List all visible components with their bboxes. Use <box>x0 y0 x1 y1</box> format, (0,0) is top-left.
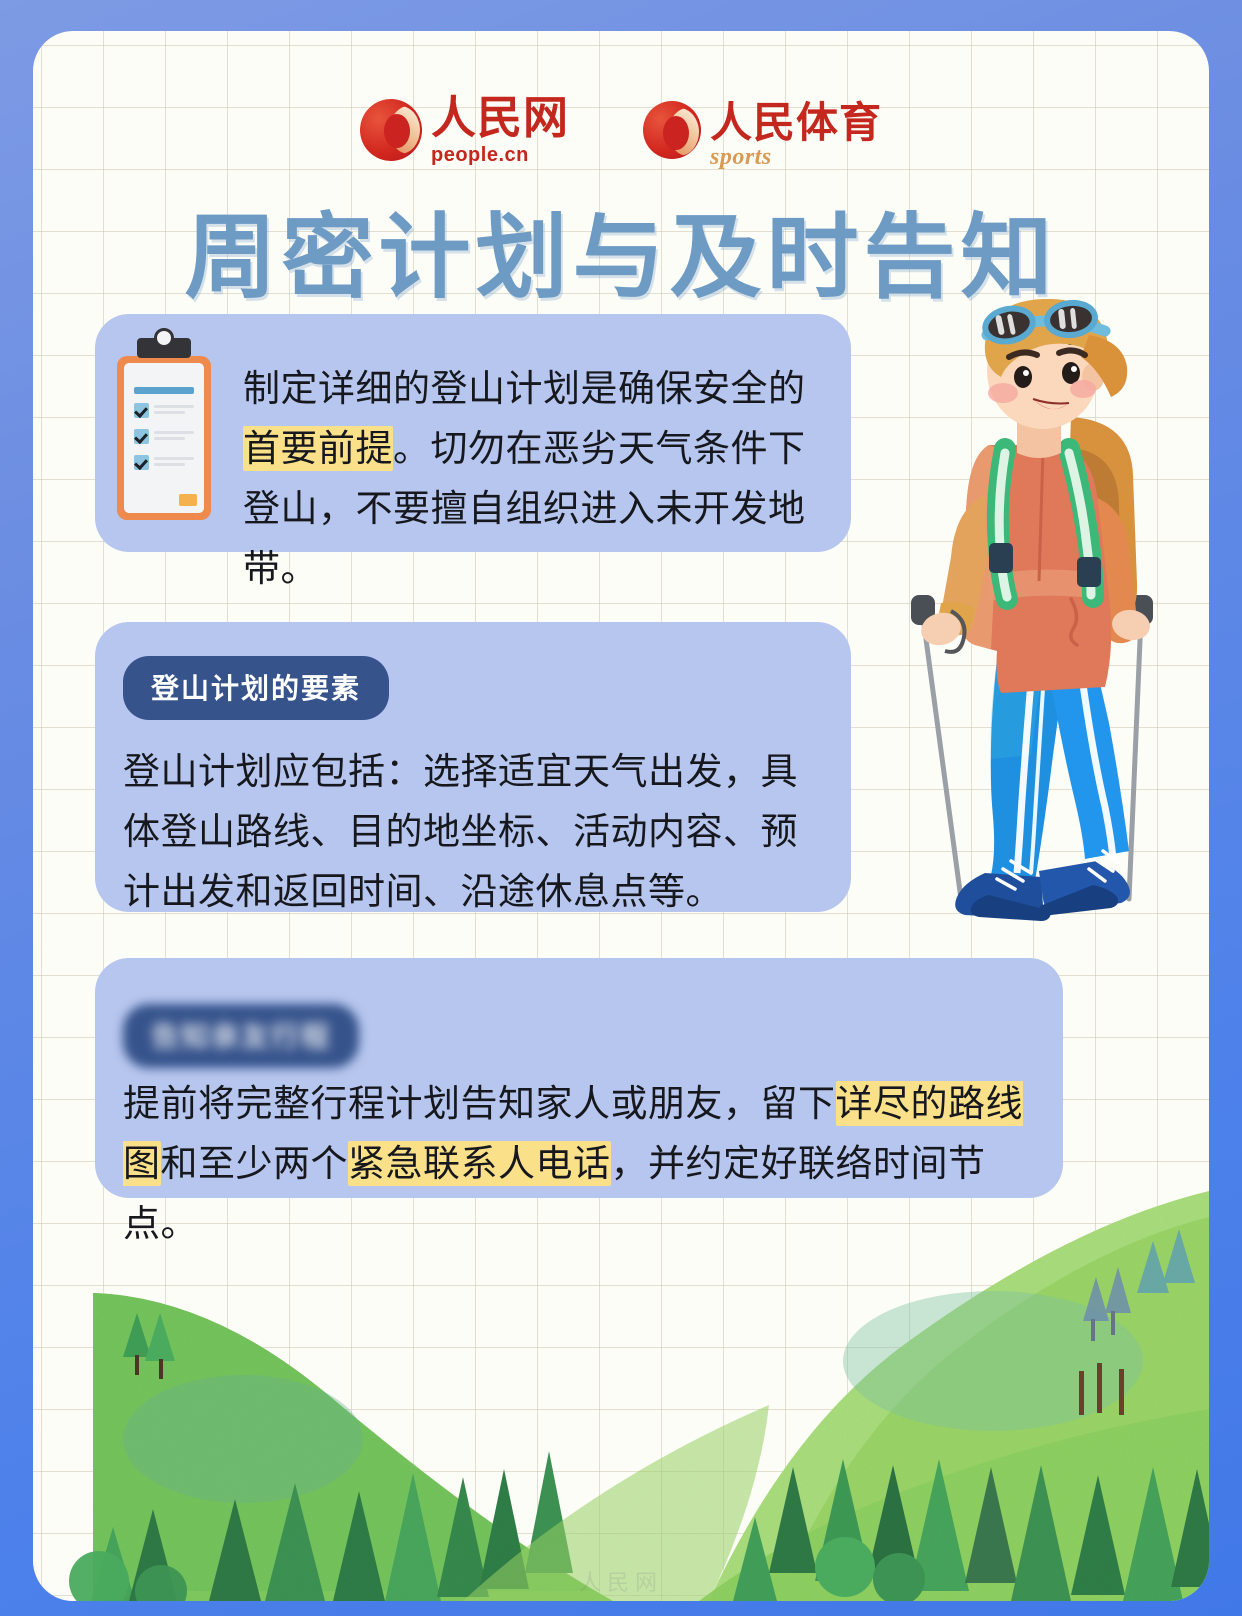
text-run: 提前将完整行程计划告知家人或朋友，留下 <box>123 1082 836 1125</box>
card-notify: 告知亲友行程 提前将完整行程计划告知家人或朋友，留下详尽的路线图和至少两个紧急联… <box>95 958 1063 1198</box>
clipboard-item <box>134 455 194 470</box>
clipboard-item <box>134 403 194 418</box>
clipboard-lines <box>154 405 194 417</box>
highlight-run: 首要前提 <box>243 426 393 471</box>
card-elements: 登山计划的要素 登山计划应包括：选择适宜天气出发，具体登山路线、目的地坐标、活动… <box>95 622 851 912</box>
clipboard-checklist-icon <box>117 356 211 520</box>
clipboard-paper <box>124 363 204 513</box>
poster-root: 人民网 people.cn 人民体育 sports 周密计划与及时告知 <box>0 0 1242 1616</box>
checkmark-icon <box>134 429 149 444</box>
clipboard-orange-marker <box>179 494 197 506</box>
card-plan: 制定详细的登山计划是确保安全的首要前提。切勿在恶劣天气条件下登山，不要擅自组织进… <box>95 314 851 552</box>
clipboard-clip-icon <box>137 338 191 358</box>
people-cn-wordmark: 人民网 people.cn <box>431 96 569 165</box>
card-elements-paragraph: 登山计划应包括：选择适宜天气出发，具体登山路线、目的地坐标、活动内容、预计出发和… <box>123 742 833 922</box>
people-cn-chinese: 人民网 <box>431 96 569 141</box>
checkmark-icon <box>134 403 149 418</box>
people-cn-logo: 人民网 people.cn <box>360 96 569 165</box>
card-elements-badge: 登山计划的要素 <box>123 656 389 720</box>
clipboard-lines <box>154 457 194 469</box>
text-run: 制定详细的登山计划是确保安全的 <box>243 367 806 410</box>
people-sports-latin: sports <box>710 144 772 171</box>
card-plan-paragraph: 制定详细的登山计划是确保安全的首要前提。切勿在恶劣天气条件下登山，不要擅自组织进… <box>243 359 831 599</box>
clipboard-lines <box>154 431 194 443</box>
page-title: 周密计划与及时告知 <box>33 183 1209 316</box>
green-hills-illustration <box>33 1171 1209 1601</box>
people-cn-latin: people.cn <box>431 145 569 165</box>
hiker-illustration <box>893 299 1163 939</box>
clipboard-header-bar <box>134 387 194 394</box>
grid-paper-page: 人民网 people.cn 人民体育 sports 周密计划与及时告知 <box>33 31 1209 1601</box>
clipboard-item <box>134 429 194 444</box>
checkmark-icon <box>134 455 149 470</box>
text-run: 登山计划应包括：选择适宜天气出发，具体登山路线、目的地坐标、活动内容、预计出发和… <box>123 750 798 913</box>
people-sports-logo: 人民体育 sports <box>643 89 882 171</box>
people-sports-chinese: 人民体育 <box>710 89 882 150</box>
logo-row: 人民网 people.cn 人民体育 sports <box>33 89 1209 171</box>
people-sports-wordmark: 人民体育 sports <box>710 89 882 171</box>
card-notify-badge: 告知亲友行程 <box>123 1004 359 1068</box>
people-sports-swirl-icon <box>643 101 701 159</box>
watermark: 人民网 <box>33 1565 1209 1597</box>
people-swirl-icon <box>360 99 422 161</box>
